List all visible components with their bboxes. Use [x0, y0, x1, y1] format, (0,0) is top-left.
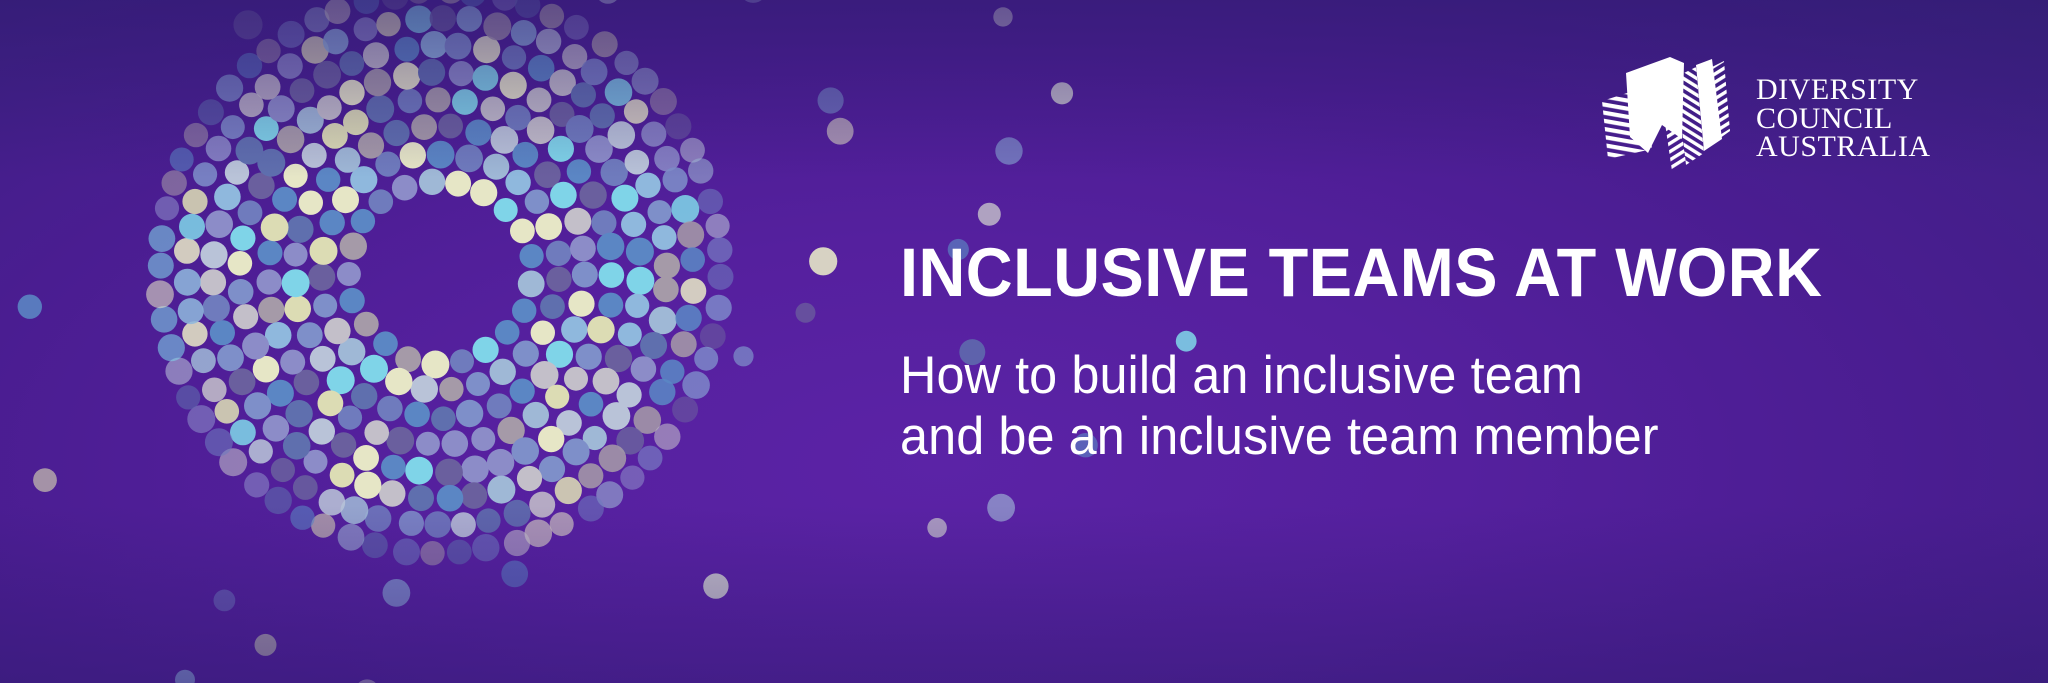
subtitle-line-2: and be an inclusive team member — [900, 406, 1964, 467]
diversity-council-australia-logo: DIVERSITY COUNCIL AUSTRALIA — [1600, 52, 1960, 182]
banner-root: DIVERSITY COUNCIL AUSTRALIA INCLUSIVE TE… — [0, 0, 2048, 683]
logo-line-council: COUNCIL — [1756, 105, 1931, 134]
logo-line-diversity: DIVERSITY — [1756, 76, 1931, 105]
subtitle-line-1: How to build an inclusive team — [900, 345, 1964, 406]
text-block: INCLUSIVE TEAMS AT WORK How to build an … — [900, 238, 2020, 468]
logo-line-australia: AUSTRALIA — [1756, 133, 1931, 162]
page-title: INCLUSIVE TEAMS AT WORK — [900, 238, 1953, 307]
page-subtitle: How to build an inclusive team and be an… — [900, 345, 1964, 468]
logo-wordmark: DIVERSITY COUNCIL AUSTRALIA — [1756, 72, 1931, 162]
dca-flag-mark-icon — [1600, 53, 1740, 181]
